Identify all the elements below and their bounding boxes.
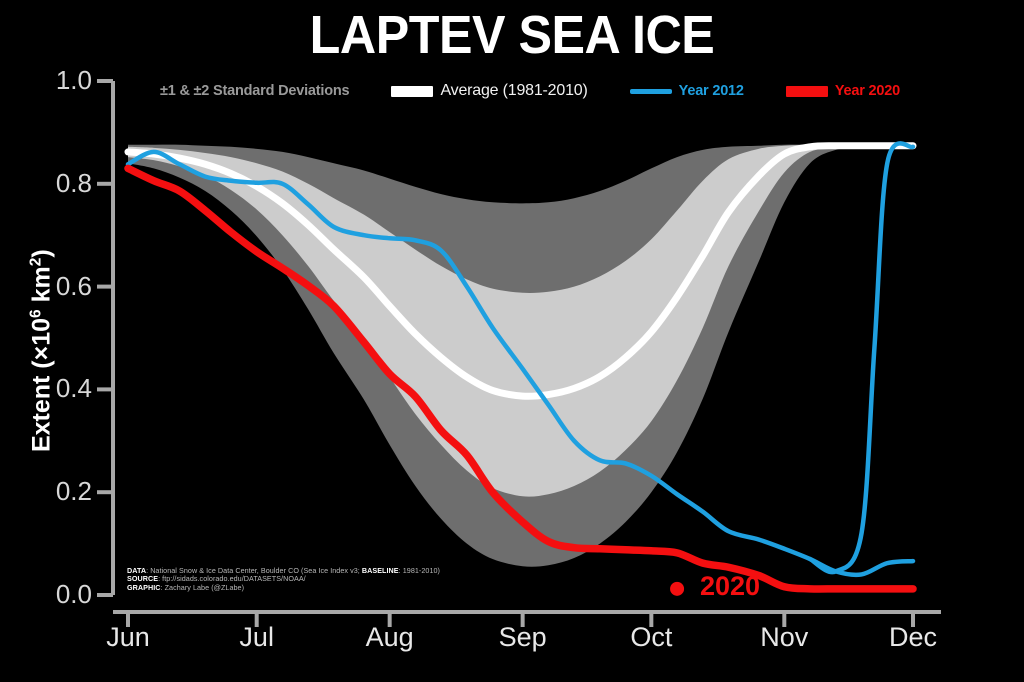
marker-year-2020-latest bbox=[670, 582, 684, 596]
attribution-graphic-line: GRAPHIC: Zachary Labe (@ZLabe) bbox=[127, 584, 440, 592]
x-axis-tick-label: Aug bbox=[330, 622, 450, 652]
attribution-baseline-key: BASELINE bbox=[362, 566, 399, 575]
x-axis-tick-label: Nov bbox=[724, 622, 844, 652]
attribution-graphic-key: GRAPHIC bbox=[127, 583, 161, 592]
x-axis-tick-label: Dec bbox=[853, 622, 973, 652]
attribution-graphic-value: : Zachary Labe (@ZLabe) bbox=[161, 583, 245, 592]
x-axis-tick-label: Sep bbox=[463, 622, 583, 652]
x-axis-tick-label: Jun bbox=[68, 622, 188, 652]
y-axis-tick-label: 0.2 bbox=[28, 478, 92, 504]
standard-deviation-bands bbox=[128, 145, 913, 567]
line-year-2012-refreeze bbox=[810, 143, 913, 572]
chart-figure: LAPTEV SEA ICE ±1 & ±2 Standard Deviatio… bbox=[0, 0, 1024, 682]
y-axis-tick-label: 0.6 bbox=[28, 273, 92, 299]
y-axis-tick-label: 0.0 bbox=[28, 581, 92, 607]
y-axis-tick-label: 1.0 bbox=[28, 67, 92, 93]
x-axis-tick-label: Oct bbox=[591, 622, 711, 652]
y-axis-tick-label: 0.8 bbox=[28, 170, 92, 196]
attribution-block: DATA: National Snow & Ice Data Center, B… bbox=[127, 567, 440, 592]
band-1-sd bbox=[128, 145, 913, 497]
attribution-baseline-value: : 1981-2010) bbox=[399, 566, 440, 575]
annotation-year-2020: 2020 bbox=[700, 571, 760, 601]
y-axis-tick-label: 0.4 bbox=[28, 375, 92, 401]
x-axis-tick-label: Jul bbox=[197, 622, 317, 652]
